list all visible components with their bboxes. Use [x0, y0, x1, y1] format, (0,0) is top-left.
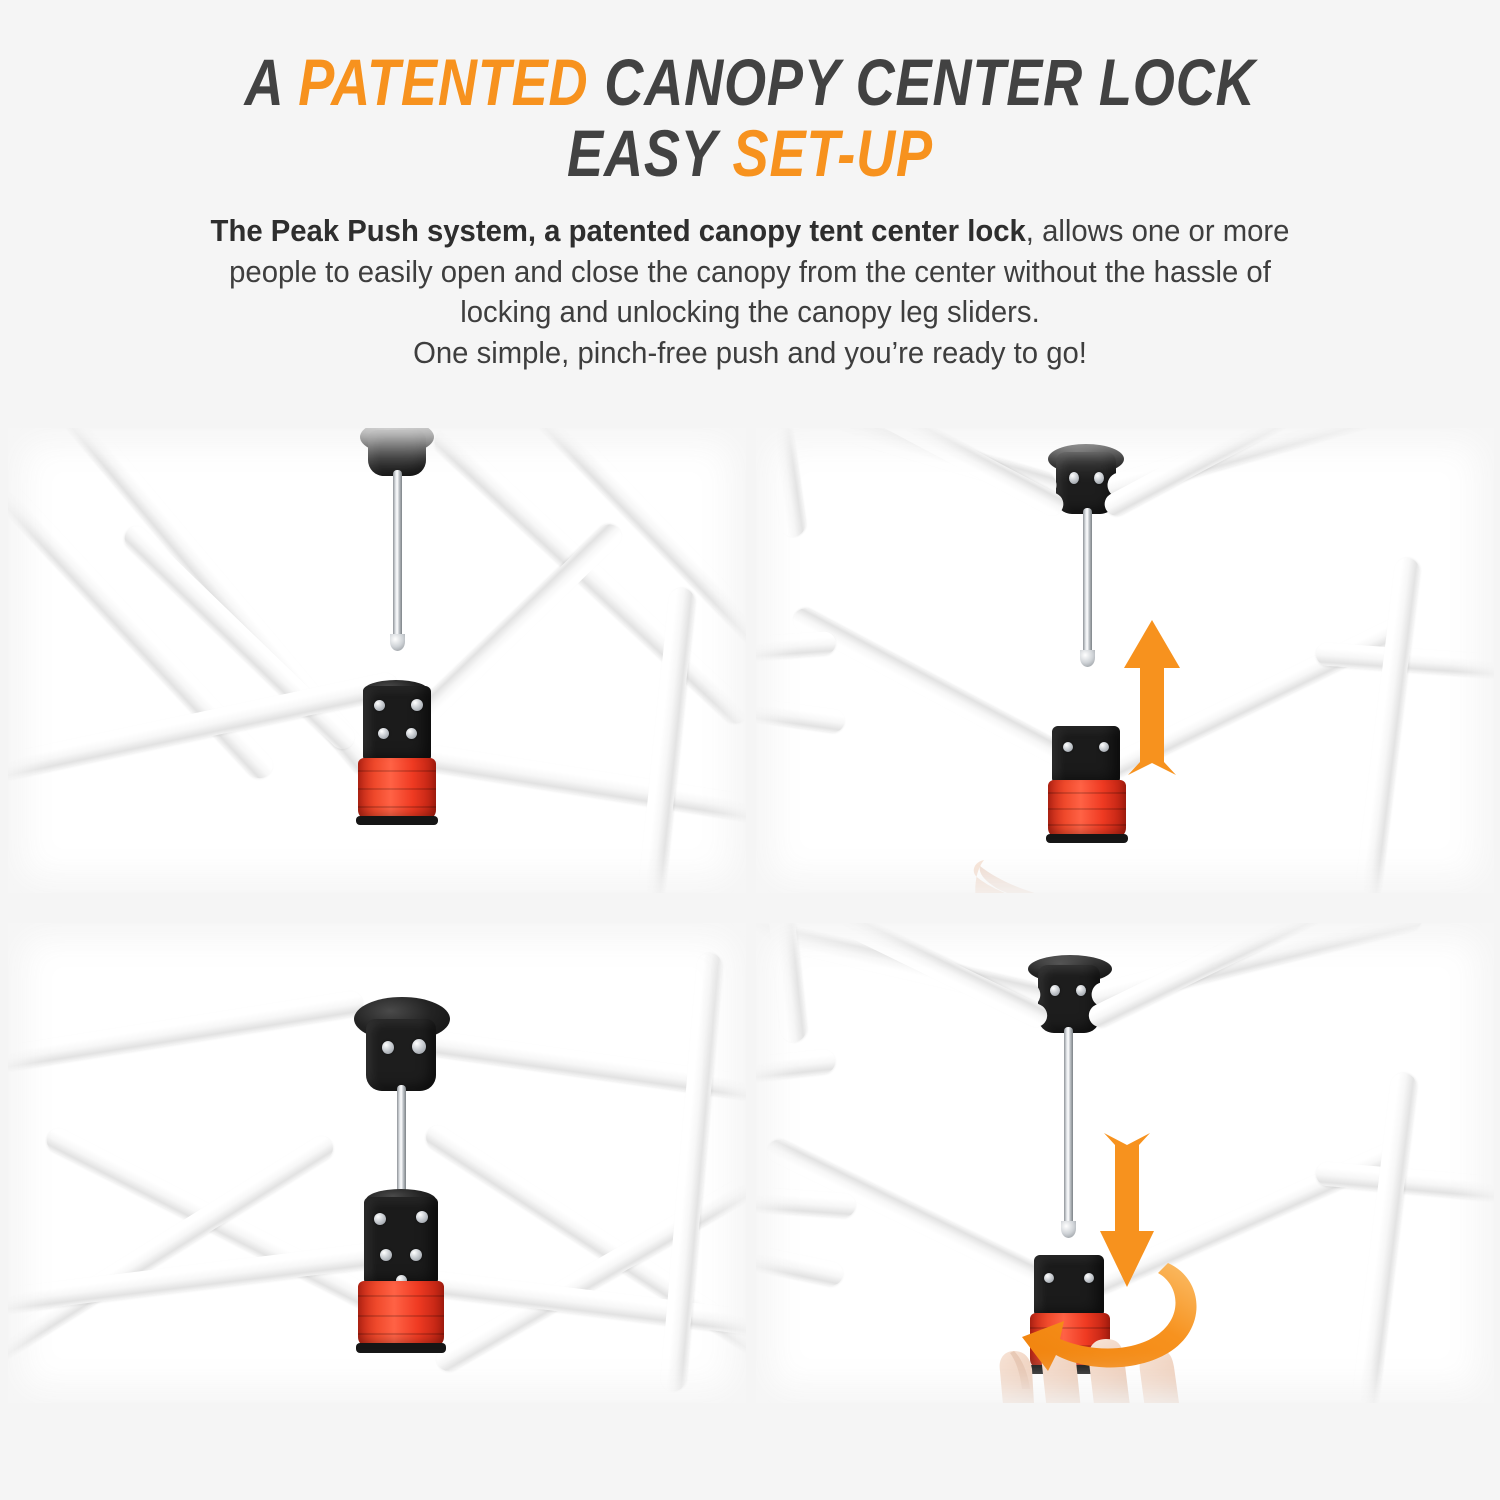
headline-line1-part2: CANOPY CENTER LOCK: [588, 45, 1255, 119]
rivet-icon: [1099, 742, 1109, 752]
frame-tube: [756, 690, 846, 734]
rivet-icon: [1069, 472, 1079, 484]
description-line1-rest: , allows one or more: [1026, 214, 1290, 248]
rivet-icon: [412, 1039, 426, 1054]
push-rod: [1083, 508, 1092, 656]
page-title: A PATENTED CANOPY CENTER LOCK EASY SET-U…: [0, 0, 1500, 185]
rivet-icon: [416, 1211, 428, 1223]
frame-tube: [8, 989, 365, 1079]
rivet-icon: [1076, 985, 1086, 996]
frame-tube: [756, 1233, 845, 1288]
center-lock-housing: [363, 686, 431, 762]
frame-tube: [424, 744, 746, 824]
open-palm-hand: [966, 820, 1486, 893]
rivet-icon: [382, 1041, 394, 1054]
center-lock-red-grip[interactable]: [358, 1281, 444, 1347]
peak-fitting: [366, 1019, 436, 1091]
rivet-icon: [1050, 985, 1060, 996]
description-line3: locking and unlocking the canopy leg sli…: [460, 295, 1039, 329]
push-rod: [1064, 1027, 1073, 1227]
push-rod-tip: [390, 634, 405, 651]
headline-line1-part1: A: [244, 45, 298, 119]
headline-line-1: A PATENTED CANOPY CENTER LOCK: [135, 50, 1365, 115]
push-rod-tip: [1080, 650, 1095, 667]
center-lock-bottom-lip: [356, 1343, 446, 1353]
rivet-icon: [1063, 742, 1073, 752]
push-rod: [397, 1085, 406, 1200]
push-rod-tip: [1061, 1221, 1076, 1238]
infographic-page: A PATENTED CANOPY CENTER LOCK EASY SET-U…: [0, 0, 1500, 1500]
center-lock-bottom-lip: [356, 816, 438, 825]
arrow-rotate-icon: [1008, 1245, 1218, 1385]
frame-tube: [1348, 1071, 1418, 1403]
panel-grid: [0, 410, 1500, 1420]
rivet-icon: [410, 1249, 422, 1261]
rivet-icon: [374, 700, 385, 711]
frame-tube: [789, 604, 1091, 779]
rivet-icon: [378, 728, 389, 739]
center-lock-housing: [364, 1197, 438, 1285]
rivet-icon: [406, 728, 417, 739]
panel-frame-collapsed: [8, 428, 746, 893]
panel-push-down-twist: [756, 923, 1494, 1403]
headline-line2-part1: EASY: [567, 116, 733, 190]
description-paragraph: The Peak Push system, a patented canopy …: [121, 211, 1379, 373]
frame-tube: [756, 1048, 836, 1087]
description-line2: people to easily open and close the cano…: [229, 255, 1271, 289]
headline-line-2: EASY SET-UP: [135, 121, 1365, 186]
frame-tube: [1101, 428, 1408, 520]
rivet-icon: [411, 699, 423, 711]
center-lock-housing: [1052, 726, 1120, 784]
frame-tube: [756, 631, 836, 663]
panel-push-up: [756, 428, 1494, 893]
rivet-icon: [1094, 472, 1104, 484]
push-rod: [393, 470, 402, 640]
rivet-icon: [374, 1213, 386, 1225]
panel-frame-locked: [8, 923, 746, 1403]
frame-tube: [764, 428, 807, 538]
description-bold-lead: The Peak Push system, a patented canopy …: [211, 214, 1026, 248]
description-line4: One simple, pinch-free push and you’re r…: [413, 336, 1087, 370]
headline-accent-setup: SET-UP: [733, 116, 933, 190]
rivet-icon: [380, 1249, 392, 1261]
center-lock-red-grip[interactable]: [358, 758, 436, 820]
headline-accent-patented: PATENTED: [298, 45, 588, 119]
arrow-up-icon: [1124, 620, 1180, 775]
